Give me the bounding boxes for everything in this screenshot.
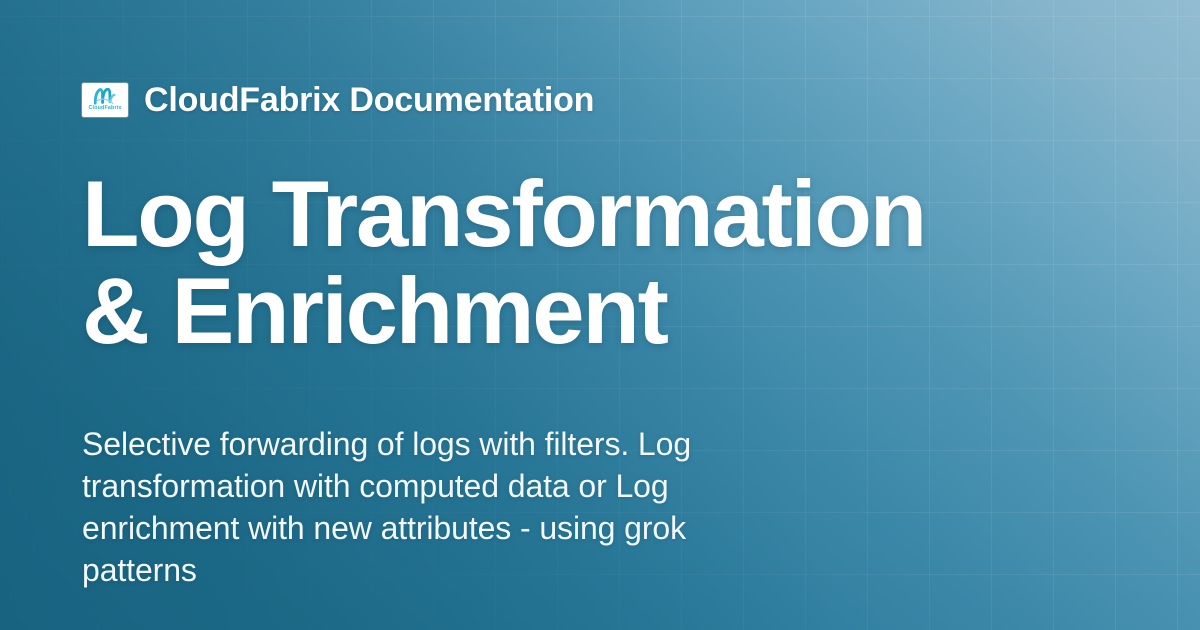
brand-row: CloudFabrix CloudFabrix Documentation — [82, 78, 1140, 122]
og-banner-card: CloudFabrix CloudFabrix Documentation Lo… — [0, 0, 1200, 630]
cloudfabrix-logo-badge: CloudFabrix — [82, 83, 128, 117]
site-title: CloudFabrix Documentation — [144, 83, 594, 117]
cloudfabrix-logo-wordmark: CloudFabrix — [88, 106, 121, 111]
cloudfabrix-logo-icon — [93, 88, 117, 105]
card-content: CloudFabrix CloudFabrix Documentation Lo… — [82, 78, 1140, 623]
page-title: Log Transformation & Enrichment — [82, 166, 1012, 360]
page-description: Selective forwarding of logs with filter… — [82, 423, 782, 591]
